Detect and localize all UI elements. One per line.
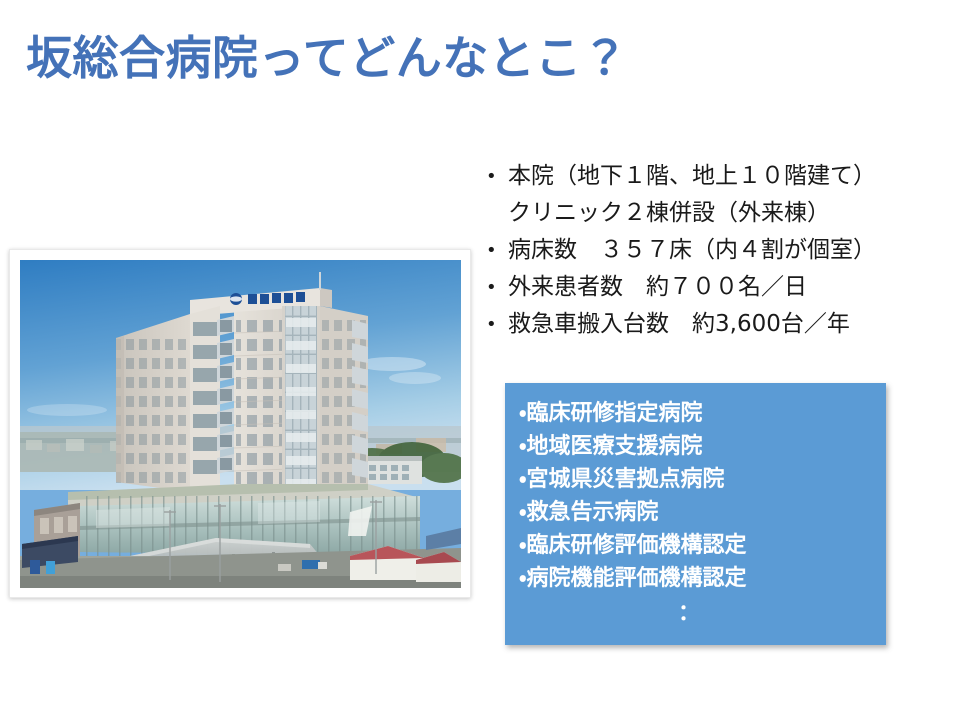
- list-item: • 病床数 ３５７床（内４割が個室）: [486, 232, 960, 269]
- list-item: • 救急車搬入台数 約3,600台／年: [486, 306, 960, 343]
- page-title: 坂総合病院ってどんなとこ？: [26, 26, 766, 90]
- list-item-label: 外来患者数 約７００名／日: [508, 269, 960, 306]
- facts-list: • 本院（地下１階、地上１０階建て） クリニック２棟併設（外来棟） • 病床数 …: [486, 158, 960, 343]
- bullet-marker: •: [486, 269, 508, 306]
- certification-item: ・救急告示病院: [519, 496, 886, 529]
- certification-item: ・宮城県災害拠点病院: [519, 463, 886, 496]
- certification-item: ・臨床研修評価機構認定: [519, 529, 886, 562]
- bullet-marker: •: [486, 158, 508, 195]
- hospital-photo: [20, 260, 461, 588]
- list-item: • 外来患者数 約７００名／日: [486, 269, 960, 306]
- list-item-sub: クリニック２棟併設（外来棟）: [486, 195, 960, 232]
- certification-ellipsis: ：: [519, 599, 859, 629]
- bullet-marker: •: [486, 306, 508, 343]
- bullet-marker: •: [486, 232, 508, 269]
- list-item-label: 救急車搬入台数 約3,600台／年: [508, 306, 960, 343]
- certifications-box: ・臨床研修指定病院 ・地域医療支援病院 ・宮城県災害拠点病院 ・救急告示病院 ・…: [505, 383, 886, 645]
- certification-item: ・病院機能評価機構認定: [519, 562, 886, 595]
- hospital-photo-artwork: [20, 260, 461, 588]
- certification-item: ・臨床研修指定病院: [519, 397, 886, 430]
- list-item-label: 病床数 ３５７床（内４割が個室）: [508, 232, 960, 269]
- certification-item: ・地域医療支援病院: [519, 430, 886, 463]
- slide-canvas: 坂総合病院ってどんなとこ？: [0, 0, 960, 720]
- list-item-label: 本院（地下１階、地上１０階建て）: [508, 158, 960, 195]
- list-item: • 本院（地下１階、地上１０階建て）: [486, 158, 960, 195]
- hospital-photo-frame: [9, 249, 471, 598]
